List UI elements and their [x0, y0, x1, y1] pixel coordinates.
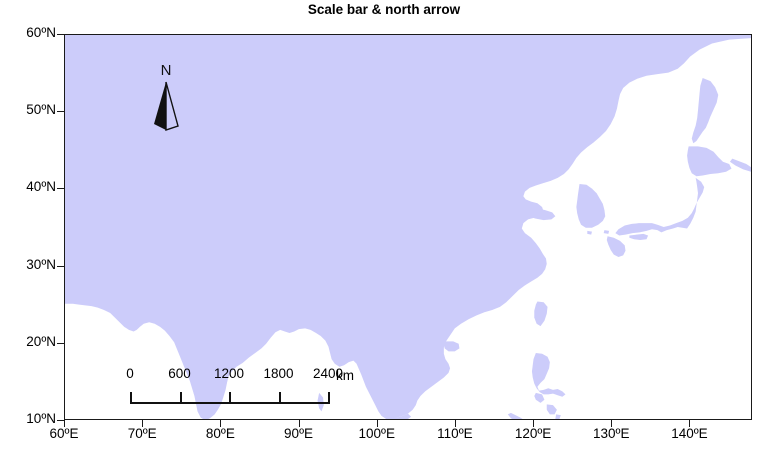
scale-bar-graphic — [118, 390, 388, 406]
scale-bar-tick-mark — [130, 392, 132, 404]
x-tick-label: 90ºE — [264, 426, 334, 441]
scale-bar-tick-label: 600 — [152, 366, 208, 381]
x-tick-label: 130ºE — [576, 426, 646, 441]
y-tick-mark — [57, 34, 64, 35]
y-tick-mark — [57, 111, 64, 112]
scale-bar-tick-label: 1200 — [201, 366, 257, 381]
scale-bar-tick-mark — [328, 392, 330, 404]
y-tick-mark — [57, 343, 64, 344]
x-tick-label: 140ºE — [654, 426, 724, 441]
y-tick-label: 30ºN — [4, 257, 56, 272]
y-tick-mark — [57, 266, 64, 267]
scale-bar-tick-mark — [279, 392, 281, 404]
scale-bar-tick-mark — [180, 392, 182, 404]
x-tick-label: 80ºE — [185, 426, 255, 441]
y-tick-label: 50ºN — [4, 102, 56, 117]
x-tick-label: 120ºE — [498, 426, 568, 441]
x-tick-label: 100ºE — [342, 426, 412, 441]
scale-bar-tick-label: 1800 — [251, 366, 307, 381]
y-tick-mark — [57, 420, 64, 421]
scale-bar-tick-mark — [229, 392, 231, 404]
y-axis-labels: 60ºN50ºN40ºN30ºN20ºN10ºN — [0, 0, 56, 462]
x-tick-label: 60ºE — [29, 426, 99, 441]
y-tick-label: 20ºN — [4, 334, 56, 349]
y-tick-label: 40ºN — [4, 179, 56, 194]
scale-bar-tick-label: 0 — [102, 366, 158, 381]
y-tick-label: 60ºN — [4, 25, 56, 40]
scale-bar-unit: km — [336, 368, 354, 383]
north-arrow: N — [146, 62, 186, 134]
x-axis-labels: 60ºE70ºE80ºE90ºE100ºE110ºE120ºE130ºE140º… — [0, 426, 768, 450]
y-tick-mark — [57, 188, 64, 189]
north-arrow-glyph — [146, 80, 186, 134]
page-title: Scale bar & north arrow — [0, 2, 768, 17]
x-tick-label: 70ºE — [107, 426, 177, 441]
x-tick-label: 110ºE — [420, 426, 490, 441]
north-arrow-label: N — [146, 62, 186, 80]
scale-bar: 0600120018002400 km — [118, 366, 388, 416]
map-figure: Scale bar & north arrow — [0, 0, 768, 462]
y-tick-label: 10ºN — [4, 411, 56, 426]
